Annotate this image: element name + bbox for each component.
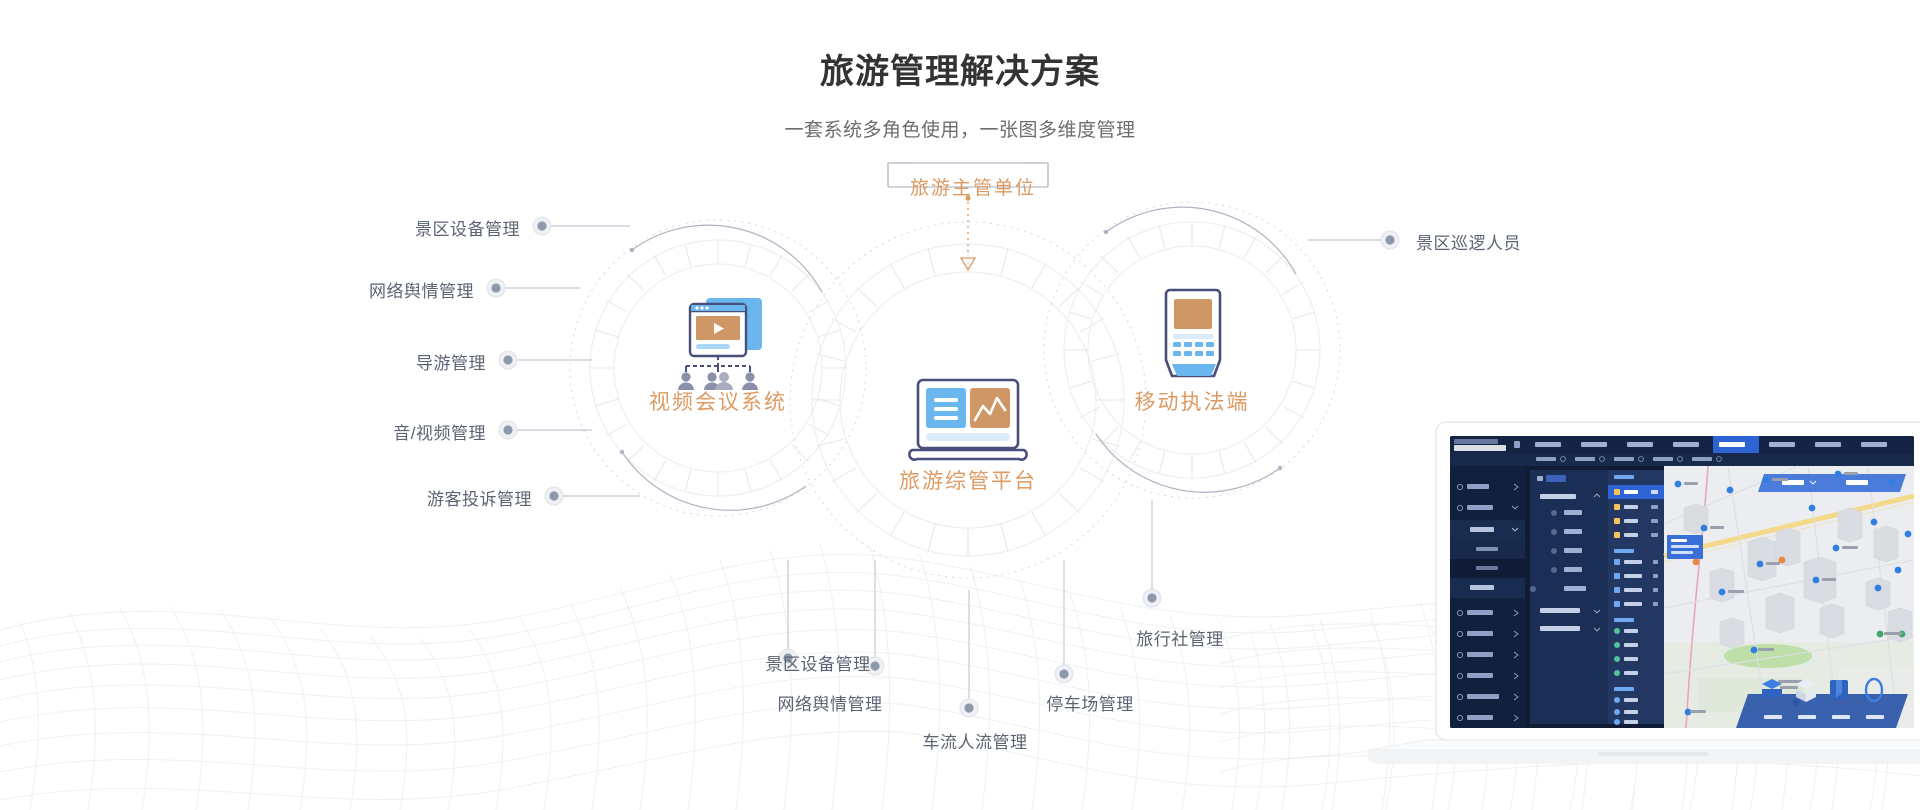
- label-scenic-equipment-bottom[interactable]: 景区设备管理: [728, 650, 908, 675]
- label-traffic-flow-bottom[interactable]: 车流人流管理: [885, 728, 1065, 753]
- laptop-mockup[interactable]: [1368, 412, 1920, 810]
- mockup-map-popup[interactable]: [1667, 535, 1703, 559]
- right-connectors: [1308, 231, 1399, 249]
- mockup-map-buttons[interactable]: [1758, 474, 1906, 492]
- label-tour-guide-left[interactable]: 导游管理: [246, 349, 486, 374]
- page-root: 旅游管理解决方案 一套系统多角色使用，一张图多维度管理: [0, 0, 1920, 810]
- label-visitor-complaint-left[interactable]: 游客投诉管理: [292, 485, 532, 510]
- left-connectors: [487, 217, 640, 505]
- bottom-connectors: [779, 500, 1161, 717]
- label-audio-video-left[interactable]: 音/视频管理: [246, 419, 486, 444]
- video-window-icon: [678, 298, 762, 390]
- laptop-dashboard-icon: [909, 380, 1026, 460]
- hub-label-video-conference[interactable]: 视频会议系统: [618, 386, 818, 416]
- label-travel-agency-bottom[interactable]: 旅行社管理: [1090, 625, 1270, 650]
- governing-body-label-box[interactable]: 旅游主管单位: [888, 163, 1058, 209]
- label-scenic-patrol-right[interactable]: 景区巡逻人员: [1416, 229, 1521, 254]
- label-parking-bottom[interactable]: 停车场管理: [1000, 690, 1180, 715]
- label-network-opinion-left[interactable]: 网络舆情管理: [234, 277, 474, 302]
- governing-body-label: 旅游主管单位: [910, 173, 1036, 200]
- label-network-opinion-bottom[interactable]: 网络舆情管理: [730, 690, 930, 715]
- label-scenic-equipment-left[interactable]: 景区设备管理: [280, 215, 520, 240]
- hub-label-tourism-platform[interactable]: 旅游综管平台: [868, 465, 1068, 495]
- handheld-device-icon: [1166, 290, 1220, 376]
- hub-label-mobile-enforcement[interactable]: 移动执法端: [1102, 386, 1282, 416]
